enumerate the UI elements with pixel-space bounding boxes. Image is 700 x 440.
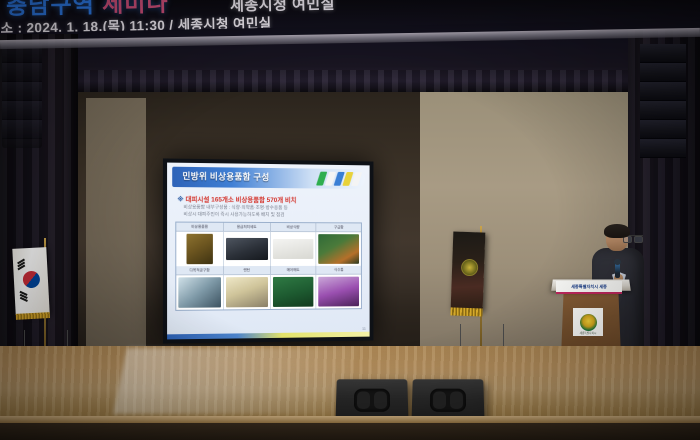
presentation-slide: 민방위 비상용품함 구성 ※ 대피시설 165개소 비상용품함 570개 비치 … bbox=[167, 163, 370, 340]
table-header-cell: 구급함 bbox=[317, 224, 361, 233]
table-header-cell: 비상용품함 bbox=[176, 223, 223, 232]
bullet-text: 대피시설 165개소 비상용품함 570개 비치 bbox=[185, 196, 296, 204]
lectern-name-sign: 세종특별자치시 세종 bbox=[556, 281, 622, 294]
table-image-row-1 bbox=[176, 232, 361, 267]
lectern-emblem-caption: 세종특별자치시 bbox=[580, 331, 597, 335]
table-row bbox=[270, 275, 316, 309]
product-photo-first-aid-kit bbox=[226, 238, 268, 260]
bullet-marker: ※ bbox=[177, 196, 183, 203]
product-photo-supply-box bbox=[186, 234, 212, 264]
slide-product-table: 비상용품함 응급처치세트 비상식량 구급함 bbox=[175, 222, 362, 311]
taegeuk-circle-icon bbox=[19, 268, 42, 291]
institution-emblem-icon bbox=[460, 258, 478, 276]
beige-wall-panel-left bbox=[86, 98, 146, 348]
table-header-cell: 다목적공구함 bbox=[176, 266, 223, 275]
korean-national-flag bbox=[12, 247, 49, 315]
line-array-speaker-left bbox=[2, 44, 42, 148]
stage-edge-trim bbox=[0, 416, 700, 423]
lectern-sign-text: 세종특별자치시 세종 bbox=[571, 284, 607, 290]
lectern-emblem-plate: 세종특별자치시 bbox=[573, 308, 603, 336]
table-header-cell: 식수통 bbox=[317, 266, 361, 275]
slide-subline-2: 비상시 대피주민이 즉시 사용가능하도록 배치 및 점검 bbox=[183, 211, 369, 219]
product-photo-tools bbox=[272, 239, 313, 259]
table-header-cell: 랜턴 bbox=[224, 266, 271, 275]
product-photo-lantern bbox=[226, 277, 268, 307]
table-row bbox=[270, 232, 316, 266]
table-header-cell: 응급처치세트 bbox=[224, 223, 271, 232]
photograph-scene: 민방위 비상용품함 구성 ※ 대피시설 165개소 비상용품함 570개 비치 … bbox=[0, 0, 700, 440]
institutional-flag bbox=[451, 231, 486, 310]
slide-logo-icon bbox=[318, 170, 361, 188]
speaker-grill-icon bbox=[354, 389, 390, 412]
product-photo-water-container bbox=[318, 277, 359, 307]
slide-footer-bar bbox=[167, 332, 370, 340]
city-emblem-icon bbox=[580, 314, 597, 331]
product-photo-toolbox bbox=[178, 278, 220, 309]
slide-bullet-line: ※ 대피시설 165개소 비상용품함 570개 비치 bbox=[177, 194, 369, 205]
table-header-cell: 비상식량 bbox=[270, 223, 316, 232]
table-row bbox=[317, 232, 361, 266]
stage-apron bbox=[0, 423, 700, 440]
slide-title-bar: 민방위 비상용품함 구성 bbox=[172, 167, 365, 189]
slide-title: 민방위 비상용품함 구성 bbox=[182, 170, 269, 183]
table-row bbox=[224, 232, 271, 266]
table-row bbox=[317, 275, 361, 309]
product-photo-air-mat bbox=[272, 277, 313, 307]
floor-light-reflection bbox=[113, 348, 357, 414]
flag-fringe bbox=[450, 307, 482, 316]
table-row bbox=[224, 275, 271, 309]
projection-screen: 민방위 비상용품함 구성 ※ 대피시설 165개소 비상용품함 570개 비치 … bbox=[163, 158, 373, 343]
speaker-hair bbox=[604, 224, 630, 238]
slide-page-number: 11 bbox=[362, 327, 366, 331]
line-array-speaker-right bbox=[640, 44, 686, 156]
table-image-row-2 bbox=[176, 275, 361, 310]
table-header-cell: 에어매트 bbox=[270, 266, 316, 275]
product-photo-kit-case bbox=[318, 234, 359, 264]
speaker-grill-icon bbox=[430, 389, 466, 412]
microphone-icon bbox=[615, 262, 620, 278]
table-row bbox=[176, 232, 223, 267]
table-row bbox=[176, 275, 223, 310]
